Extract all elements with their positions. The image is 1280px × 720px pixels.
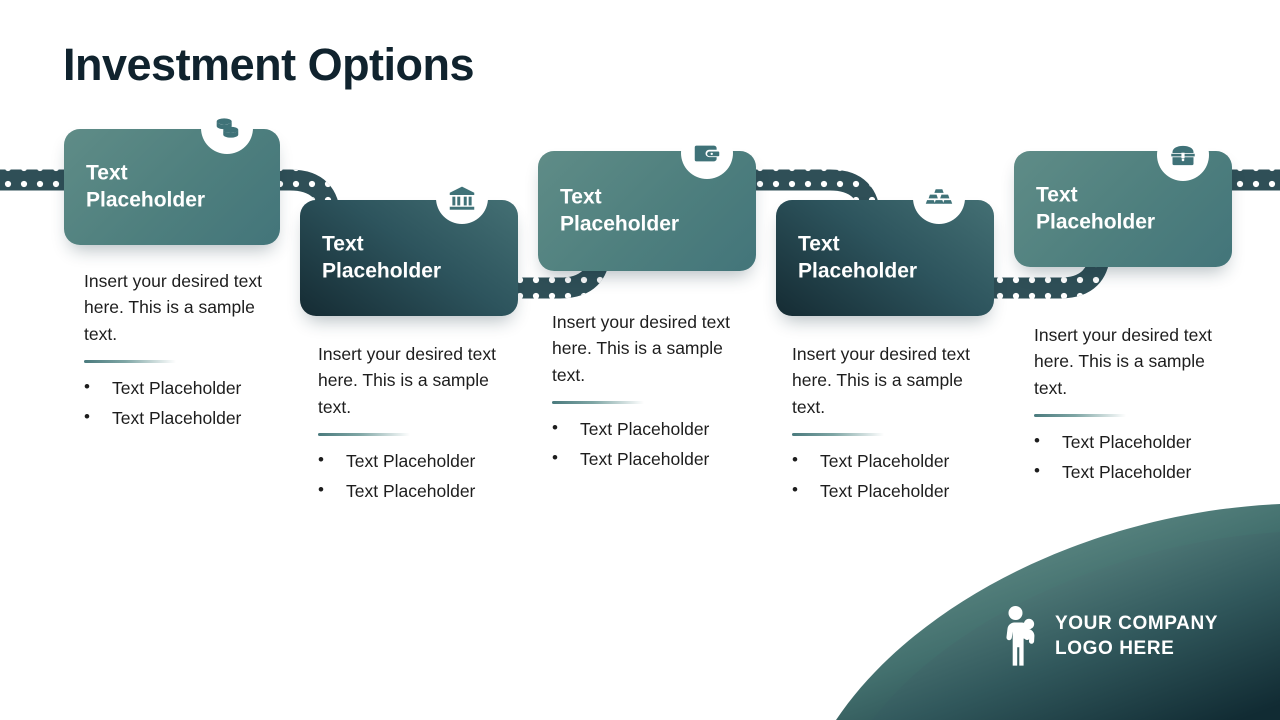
card-5-divider [1034, 414, 1126, 417]
card-4-paragraph: Insert your desired text here. This is a… [792, 341, 997, 420]
card-1-body: Insert your desired text here. This is a… [84, 268, 289, 433]
card-3-title-line2: Placeholder [560, 211, 740, 238]
company-logo: YOUR COMPANY LOGO HERE [1000, 605, 1218, 669]
card-5-bullets: Text Placeholder Text Placeholder [1034, 427, 1239, 487]
card-2-paragraph: Insert your desired text here. This is a… [318, 341, 523, 420]
card-2-title-line2: Placeholder [322, 258, 502, 285]
card-5-paragraph: Insert your desired text here. This is a… [1034, 322, 1239, 401]
logo-text-line1: YOUR COMPANY [1055, 612, 1218, 637]
card-1-title-line1: Text [86, 160, 266, 187]
card-1-title: Text Placeholder [86, 160, 266, 215]
treasure-chest-icon[interactable] [1157, 129, 1209, 181]
list-item: Text Placeholder [318, 476, 523, 506]
card-3-divider [552, 401, 644, 404]
bank-building-icon[interactable] [436, 172, 488, 224]
card-2-divider [318, 433, 410, 436]
slide-canvas: Investment Options Text Placeholder [0, 0, 1280, 720]
card-1-bullets: Text Placeholder Text Placeholder [84, 373, 289, 433]
coin-stack-icon[interactable] [201, 102, 253, 154]
list-item: Text Placeholder [792, 446, 997, 476]
list-item: Text Placeholder [84, 403, 289, 433]
card-4-title: Text Placeholder [798, 231, 978, 286]
card-4-divider [792, 433, 884, 436]
card-3-title-line1: Text [560, 184, 740, 211]
card-4[interactable]: Text Placeholder [776, 200, 994, 316]
card-2[interactable]: Text Placeholder [300, 200, 518, 316]
card-3-body: Insert your desired text here. This is a… [552, 309, 757, 474]
card-3-paragraph: Insert your desired text here. This is a… [552, 309, 757, 388]
card-1[interactable]: Text Placeholder [64, 129, 280, 245]
card-2-body: Insert your desired text here. This is a… [318, 341, 523, 506]
page-title: Investment Options [63, 40, 474, 90]
card-4-title-line1: Text [798, 231, 978, 258]
list-item: Text Placeholder [1034, 457, 1239, 487]
list-item: Text Placeholder [1034, 427, 1239, 457]
list-item: Text Placeholder [84, 373, 289, 403]
card-2-title-line1: Text [322, 231, 502, 258]
card-4-title-line2: Placeholder [798, 258, 978, 285]
logo-text: YOUR COMPANY LOGO HERE [1055, 612, 1218, 661]
list-item: Text Placeholder [318, 446, 523, 476]
card-3-title: Text Placeholder [560, 184, 740, 239]
card-1-title-line2: Placeholder [86, 187, 266, 214]
card-2-title: Text Placeholder [322, 231, 502, 286]
card-1-divider [84, 360, 176, 363]
card-5-body: Insert your desired text here. This is a… [1034, 322, 1239, 487]
card-3-bullets: Text Placeholder Text Placeholder [552, 414, 757, 474]
logo-text-line2: LOGO HERE [1055, 637, 1218, 662]
wallet-icon[interactable] [681, 127, 733, 179]
list-item: Text Placeholder [552, 444, 757, 474]
card-1-paragraph: Insert your desired text here. This is a… [84, 268, 289, 347]
card-2-bullets: Text Placeholder Text Placeholder [318, 446, 523, 506]
card-5-title-line1: Text [1036, 182, 1216, 209]
card-5-title: Text Placeholder [1036, 182, 1216, 237]
card-5-title-line2: Placeholder [1036, 209, 1216, 236]
card-4-body: Insert your desired text here. This is a… [792, 341, 997, 506]
mother-and-child-icon [1000, 605, 1042, 669]
list-item: Text Placeholder [552, 414, 757, 444]
gold-bars-icon[interactable] [913, 172, 965, 224]
logo-swoosh-decoration [798, 488, 1280, 720]
